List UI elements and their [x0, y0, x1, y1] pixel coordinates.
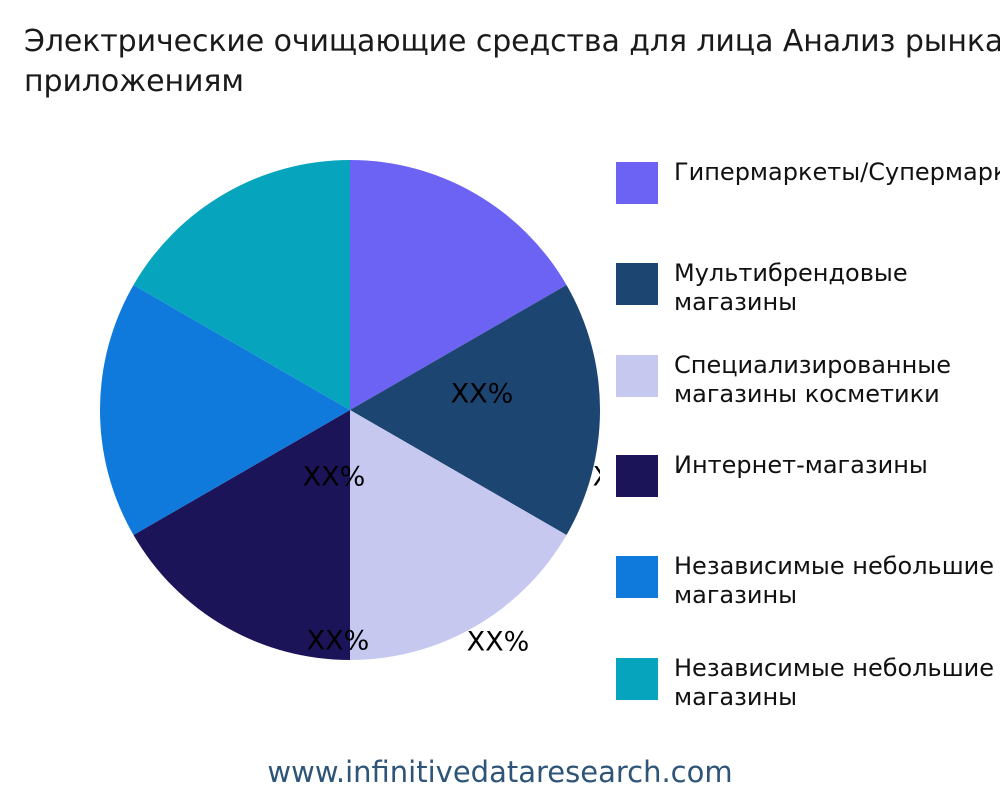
pie-slice-value-label: XX%: [307, 626, 370, 657]
pie-slice-value-label: XX%: [451, 379, 514, 410]
legend-color-swatch: [616, 455, 658, 497]
legend-item-label: Интернет-магазины: [674, 451, 1000, 480]
legend-item-label: Гипермаркеты/Супермаркеты: [674, 158, 1000, 187]
legend-item-label: Специализированные магазины косметики: [674, 351, 1000, 409]
pie-chart: XX%XX%XX%XX%XX%XX%: [100, 160, 600, 660]
pie-slice-value-label: XX%: [593, 462, 600, 493]
pie-slice-value-label: XX%: [467, 627, 530, 658]
legend-item-label: Независимые небольшие магазины: [674, 552, 1000, 610]
legend-color-swatch: [616, 355, 658, 397]
pie-chart-svg: XX%XX%XX%XX%XX%XX%: [100, 160, 600, 660]
pie-slice-value-label: XX%: [303, 462, 366, 493]
page-title: Электрические очищающие средства для лиц…: [24, 22, 1000, 102]
footer-website-url[interactable]: www.infinitivedataresearch.com: [0, 752, 1000, 792]
legend-item-label: Мультибрендовые магазины: [674, 259, 1000, 317]
legend-color-swatch: [616, 658, 658, 700]
pie-slice-group: [100, 160, 600, 660]
chart-page: Электрические очищающие средства для лиц…: [0, 0, 1000, 800]
legend-color-swatch: [616, 556, 658, 598]
legend-item-label: Независимые небольшие магазины: [674, 654, 1000, 712]
legend-color-swatch: [616, 263, 658, 305]
legend-color-swatch: [616, 162, 658, 204]
